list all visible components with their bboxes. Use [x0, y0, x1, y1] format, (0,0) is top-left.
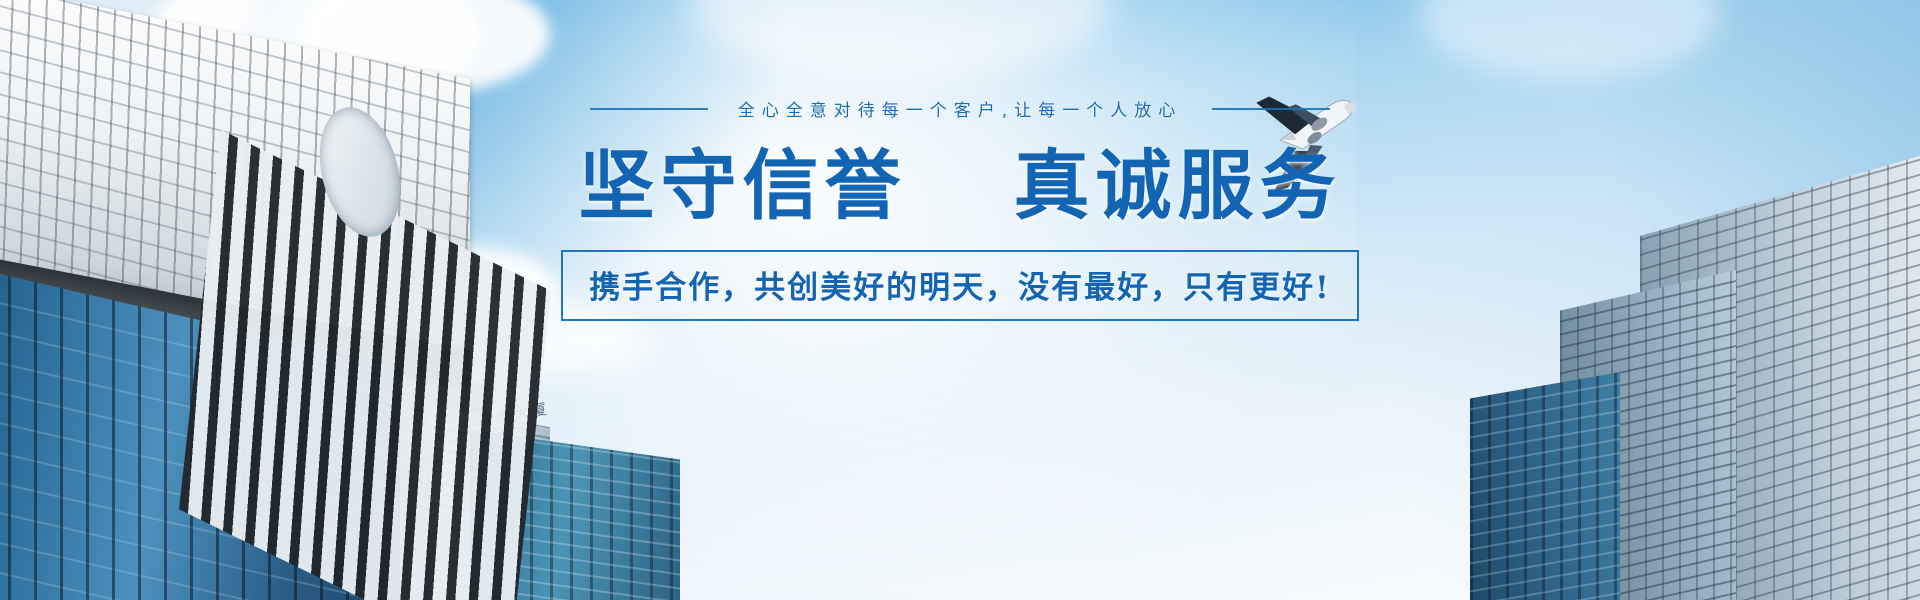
decorative-rule-left-icon [590, 108, 708, 110]
banner-copy: 全心全意对待每一个客户,让每一个人放心 坚守信誉 真诚服务 携手合作，共创美好的… [0, 96, 1920, 321]
decorative-rule-right-icon [1212, 108, 1330, 110]
headline-part-right: 真诚服务 [1013, 141, 1341, 230]
hero-banner: 联合大厦 全心全意对待每一个客户,让每一个人放心 坚守信誉 [0, 0, 1920, 600]
banner-tagline: 全心全意对待每一个客户,让每一个人放心 [738, 96, 1182, 121]
banner-subtitle: 携手合作，共创美好的明天，没有最好，只有更好! [561, 250, 1359, 321]
headline-part-left: 坚守信誉 [579, 141, 907, 230]
banner-headline: 坚守信誉 真诚服务 [0, 143, 1920, 228]
subtitle-wrap: 携手合作，共创美好的明天，没有最好，只有更好! [0, 250, 1920, 321]
skyscraper-right-near [1470, 372, 1620, 600]
tagline-row: 全心全意对待每一个客户,让每一个人放心 [0, 96, 1920, 121]
